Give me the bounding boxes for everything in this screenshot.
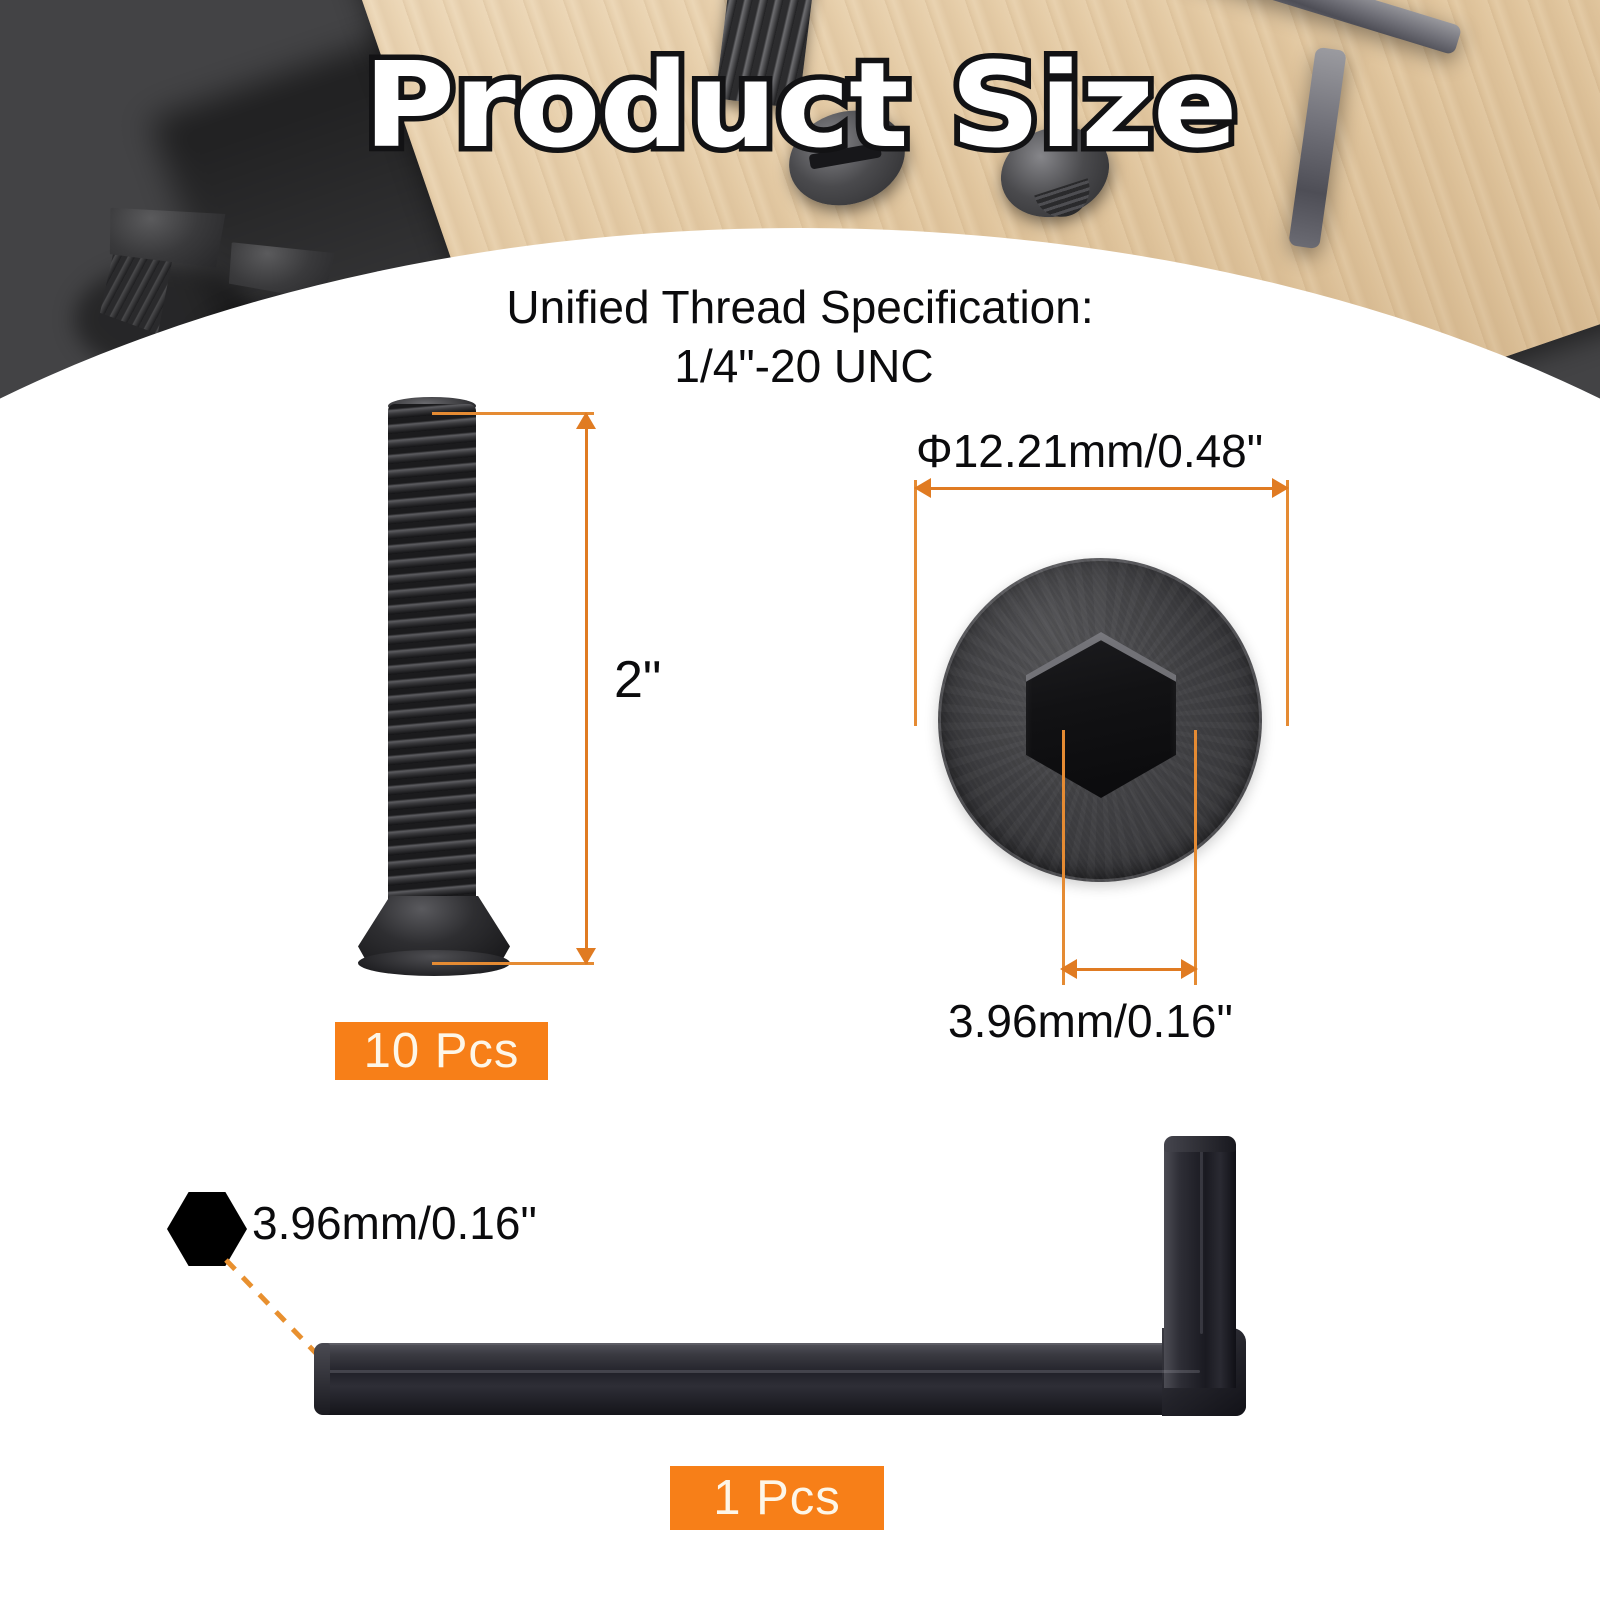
hex-key-facet-line (1200, 1144, 1203, 1334)
diameter-arrow-right (1272, 478, 1289, 498)
thread-specification: Unified Thread Specification: 1/4"-20 UN… (0, 278, 1600, 396)
screw-quantity-badge: 10 Pcs (335, 1022, 548, 1080)
hexagon-icon (167, 1192, 247, 1266)
hex-key-tip (1164, 1136, 1236, 1152)
hex-key-facet-line (320, 1370, 1200, 1373)
hex-key-quantity-badge: 1 Pcs (670, 1466, 884, 1530)
spec-line-1: Unified Thread Specification: (506, 281, 1093, 333)
head-diameter-label: Φ12.21mm/0.48" (916, 424, 1263, 478)
hex-key-illustration (316, 1138, 1246, 1422)
dimension-arrow-up (576, 412, 596, 429)
screw-side-view (358, 404, 518, 974)
dimension-line-length (585, 414, 588, 964)
hex-socket-size-label: 3.96mm/0.16" (948, 994, 1233, 1048)
hex-key-tip (314, 1343, 330, 1415)
page-title: Product Size (0, 46, 1600, 164)
dimension-line-diameter (918, 487, 1286, 490)
socket-extension-right (1194, 730, 1197, 985)
spec-line-2: 1/4"-20 UNC (0, 337, 1600, 396)
dimension-extension-bottom (432, 962, 594, 965)
screw-thread (388, 404, 476, 912)
diameter-extension-right (1286, 480, 1289, 726)
socket-arrow-left (1060, 959, 1077, 979)
product-size-infographic: Product Size Unified Thread Specificatio… (0, 0, 1600, 1600)
dimension-arrow-down (576, 948, 596, 965)
dimension-extension-top (432, 412, 594, 415)
diameter-extension-left (914, 480, 917, 726)
hex-key-long-arm (316, 1343, 1246, 1415)
screw-head-top-view (938, 558, 1262, 882)
diameter-arrow-left (914, 478, 931, 498)
socket-arrow-right (1181, 959, 1198, 979)
socket-extension-left (1062, 730, 1065, 985)
countersunk-screw-photo-1 (108, 200, 228, 274)
dimension-line-socket (1065, 968, 1195, 971)
screw-length-label: 2" (614, 650, 661, 710)
